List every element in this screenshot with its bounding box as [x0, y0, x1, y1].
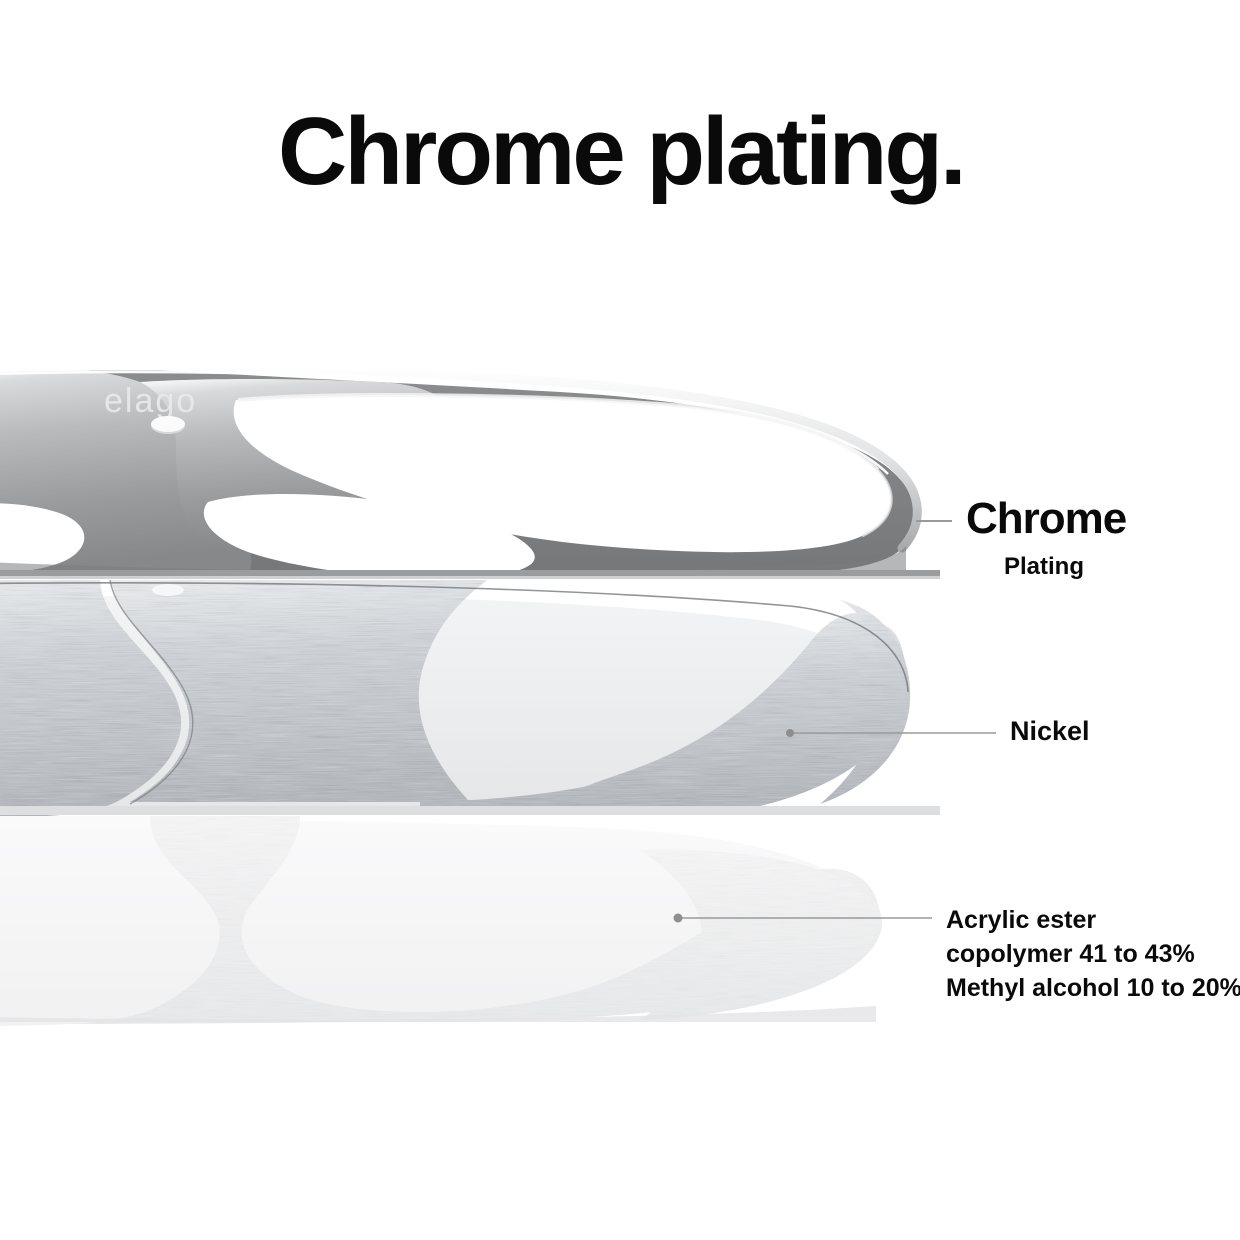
layer-acrylic	[0, 816, 882, 1026]
callout-acrylic: Acrylic ester copolymer 41 to 43% Methyl…	[946, 903, 1240, 1005]
product-illustration: elago	[0, 0, 1240, 1240]
callout-chrome-subtitle: Plating	[1004, 555, 1126, 579]
callout-acrylic-line-3: Methyl alcohol 10 to 20%	[946, 971, 1240, 1005]
infographic-canvas: Chrome plating.	[0, 0, 1240, 1240]
callout-chrome: Chrome Plating	[966, 497, 1126, 579]
brand-logo: elago	[104, 382, 197, 420]
callout-nickel: Nickel	[1010, 718, 1090, 745]
callout-chrome-title: Chrome	[966, 497, 1126, 541]
callout-nickel-title: Nickel	[1010, 718, 1090, 745]
layer-chrome: elago	[0, 366, 940, 579]
callout-acrylic-line-2: copolymer 41 to 43%	[946, 937, 1240, 971]
layer-nickel	[0, 578, 940, 817]
callout-acrylic-line-1: Acrylic ester	[946, 903, 1240, 937]
